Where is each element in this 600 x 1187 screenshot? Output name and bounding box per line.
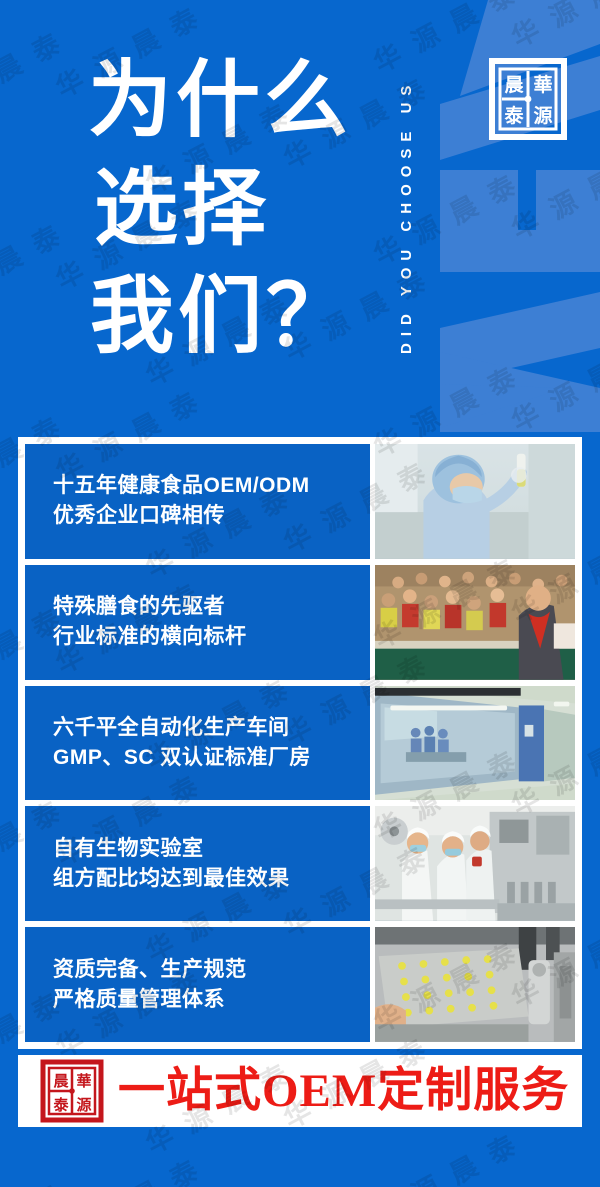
feature-line: 严格质量管理体系: [53, 985, 370, 1015]
title-line-2: 选择: [88, 156, 388, 264]
page-title: 为什么 选择 我们？: [88, 48, 388, 372]
svg-text:華: 華: [76, 1072, 91, 1090]
poster-header: 为什么 选择 我们？ DID YOU CHOOSE US 晨 華 泰 源: [0, 0, 600, 432]
feature-image-conference: [375, 565, 575, 680]
feature-line: 十五年健康食品OEM/ODM: [53, 471, 370, 501]
cta-banner-text: 一站式OEM定制服务: [118, 1068, 569, 1115]
feature-cards-list: 十五年健康食品OEM/ODM 优秀企业口碑相传: [25, 444, 575, 1042]
feature-line: 特殊膳食的先驱者: [53, 592, 370, 622]
cta-banner[interactable]: 晨 華 泰 源 一站式OEM定制服务: [18, 1055, 582, 1127]
feature-line: 自有生物实验室: [53, 834, 370, 864]
feature-line: 组方配比均达到最佳效果: [53, 864, 370, 894]
feature-card-text-4: 自有生物实验室 组方配比均达到最佳效果: [25, 806, 370, 921]
feature-cards-frame: 十五年健康食品OEM/ODM 优秀企业口碑相传: [18, 437, 582, 1049]
feature-image-technician: [375, 444, 575, 559]
feature-card-text-1: 十五年健康食品OEM/ODM 优秀企业口碑相传: [25, 444, 370, 559]
feature-card-text-3: 六千平全自动化生产车间 GMP、SC 双认证标准厂房: [25, 686, 370, 801]
list-item[interactable]: 特殊膳食的先驱者 行业标准的横向标杆: [25, 565, 575, 680]
feature-line: 六千平全自动化生产车间: [53, 713, 370, 743]
svg-text:源: 源: [533, 104, 552, 127]
feature-card-text-5: 资质完备、生产规范 严格质量管理体系: [25, 927, 370, 1042]
feature-line: GMP、SC 双认证标准厂房: [53, 743, 370, 773]
vertical-english-caption: DID YOU CHOOSE US: [398, 14, 424, 418]
feature-line: 资质完备、生产规范: [53, 955, 370, 985]
feature-card-text-2: 特殊膳食的先驱者 行业标准的横向标杆: [25, 565, 370, 680]
feature-line: 行业标准的横向标杆: [53, 622, 370, 652]
feature-image-lab-line: [375, 806, 575, 921]
feature-line: 优秀企业口碑相传: [53, 501, 370, 531]
list-item[interactable]: 十五年健康食品OEM/ODM 优秀企业口碑相传: [25, 444, 575, 559]
brand-seal-white-icon: 晨 華 泰 源: [489, 58, 567, 140]
feature-image-cleanroom: [375, 686, 575, 801]
svg-text:泰: 泰: [503, 104, 524, 127]
title-line-1: 为什么: [88, 48, 388, 156]
title-line-3: 我们？: [88, 264, 388, 372]
feature-image-blister-packing: [375, 927, 575, 1042]
svg-text:泰: 泰: [52, 1096, 69, 1114]
svg-text:源: 源: [76, 1096, 91, 1114]
list-item[interactable]: 资质完备、生产规范 严格质量管理体系: [25, 927, 575, 1042]
svg-text:華: 華: [533, 73, 552, 96]
svg-text:晨: 晨: [504, 74, 524, 96]
list-item[interactable]: 六千平全自动化生产车间 GMP、SC 双认证标准厂房: [25, 686, 575, 801]
svg-text:晨: 晨: [53, 1072, 69, 1090]
list-item[interactable]: 自有生物实验室 组方配比均达到最佳效果: [25, 806, 575, 921]
poster-root: 为什么 选择 我们？ DID YOU CHOOSE US 晨 華 泰 源: [0, 0, 600, 1187]
brand-seal-red-icon: 晨 華 泰 源: [40, 1059, 104, 1123]
